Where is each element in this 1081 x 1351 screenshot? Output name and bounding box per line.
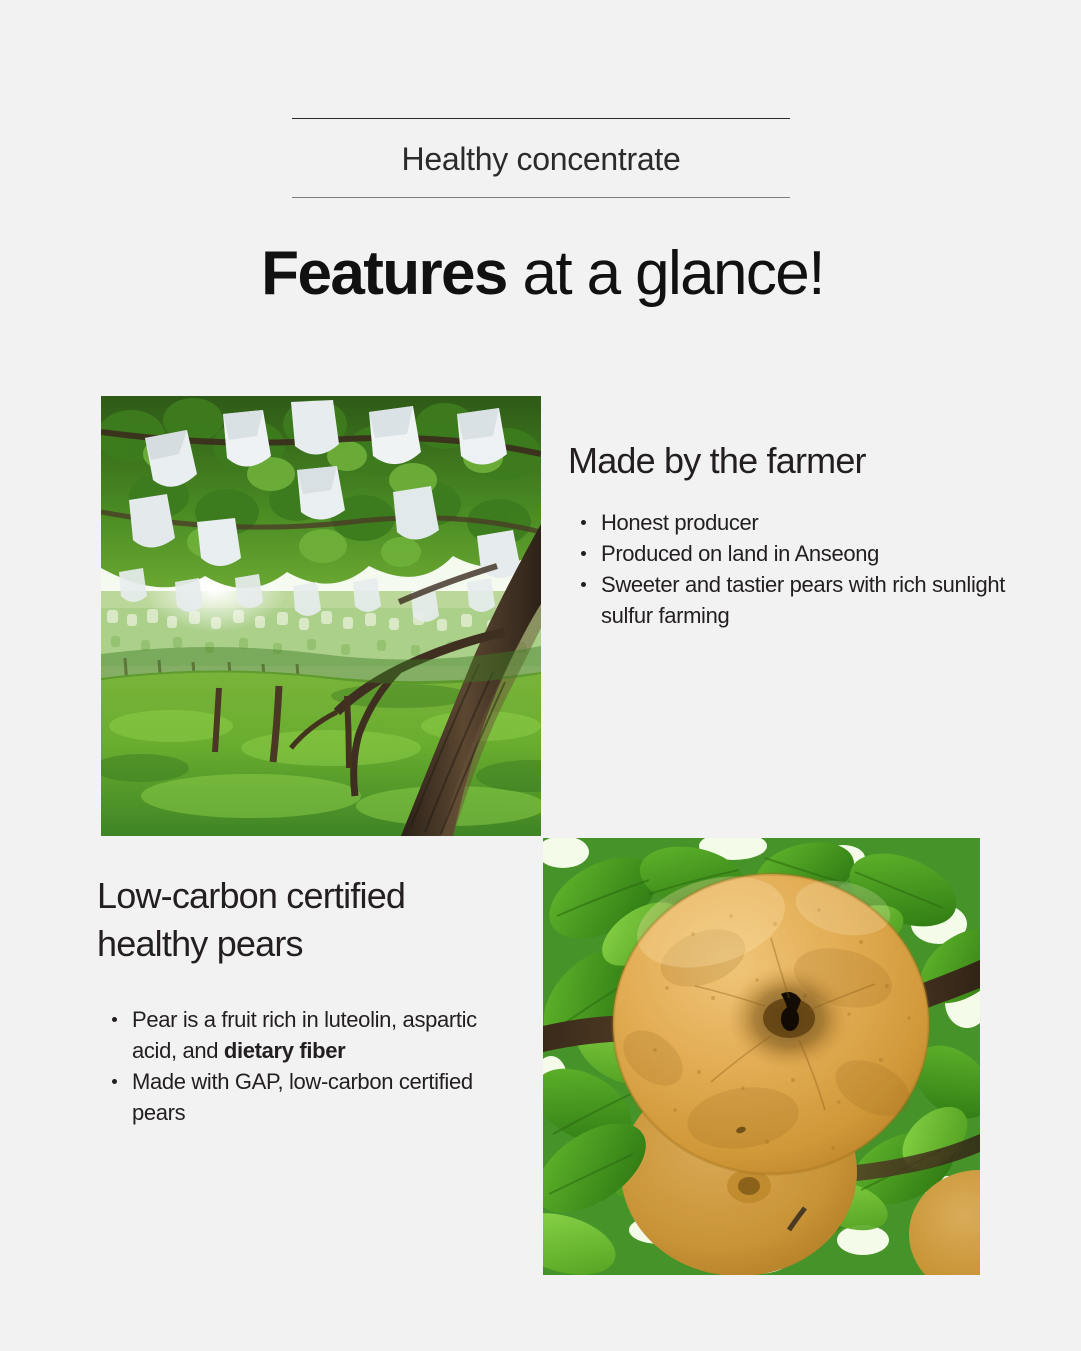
section-low-carbon-certified: Low-carbon certified healthy pears Pear …	[97, 872, 527, 1128]
kicker-rule-bottom	[292, 197, 790, 198]
list-item: Produced on land in Anseong	[578, 538, 1028, 569]
list-item: Sweeter and tastier pears with rich sunl…	[578, 569, 1028, 631]
page-root: Healthy concentrate Features at a glance…	[0, 0, 1081, 1351]
feature-list-low-carbon: Pear is a fruit rich in luteolin, aspart…	[97, 1004, 527, 1128]
orchard-illustration	[101, 396, 541, 836]
section-heading-farmer: Made by the farmer	[568, 437, 1028, 485]
asian-pear-closeup-photo	[543, 838, 980, 1275]
section-heading-line-1: Low-carbon certified	[97, 872, 527, 920]
list-item: Honest producer	[578, 507, 1028, 538]
section-heading-line-2: healthy pears	[97, 920, 527, 968]
section-made-by-the-farmer: Made by the farmer Honest producer Produ…	[568, 437, 1028, 631]
list-item-emphasis: dietary fiber	[224, 1038, 345, 1063]
kicker-block: Healthy concentrate	[292, 118, 790, 198]
feature-list-farmer: Honest producer Produced on land in Anse…	[568, 507, 1028, 631]
kicker-text: Healthy concentrate	[292, 119, 790, 197]
pear-orchard-photo	[101, 396, 541, 836]
page-title-light: at a glance!	[507, 239, 824, 308]
section-heading-low-carbon: Low-carbon certified healthy pears	[97, 872, 527, 968]
pear-illustration	[543, 838, 980, 1275]
list-item: Made with GAP, low-carbon certified pear…	[109, 1066, 527, 1128]
page-title: Features at a glance!	[0, 238, 1081, 310]
page-title-bold: Features	[261, 239, 507, 308]
list-item: Pear is a fruit rich in luteolin, aspart…	[109, 1004, 527, 1066]
